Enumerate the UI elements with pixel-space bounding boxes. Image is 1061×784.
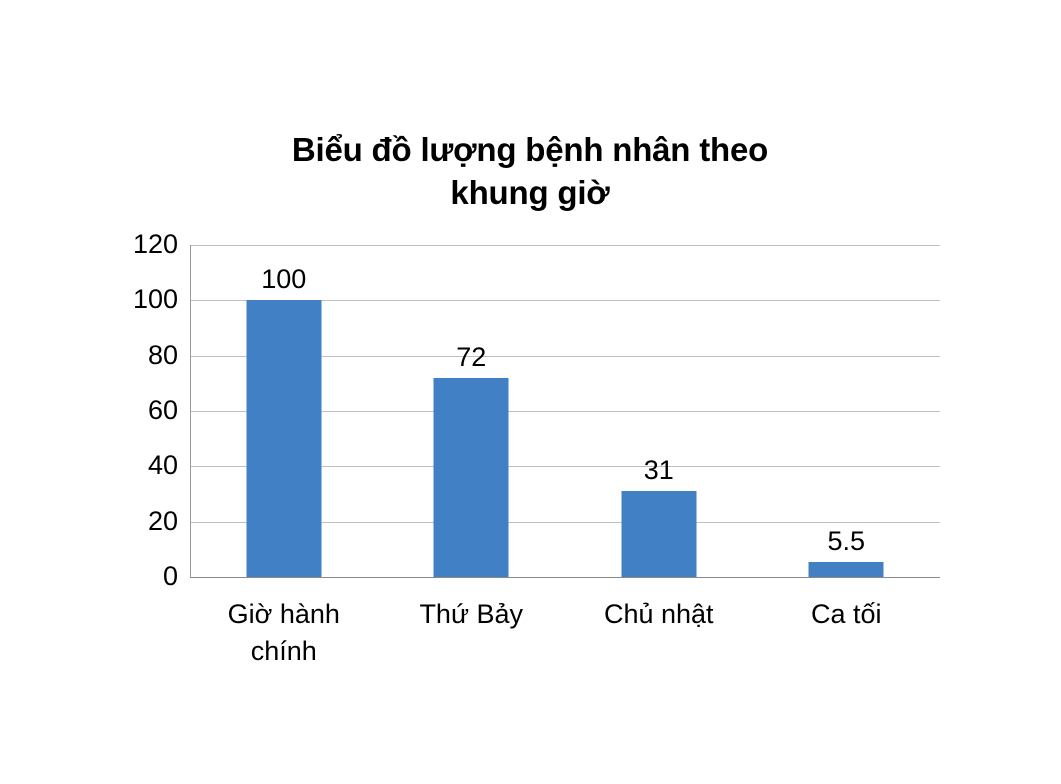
y-tick-label-60: 60 xyxy=(98,397,178,424)
bar-chart: Biểu đồ lượng bệnh nhân theo khung giờ 1… xyxy=(0,0,1061,784)
bar-slot-2: 72 xyxy=(378,245,566,577)
y-axis-line xyxy=(190,245,191,578)
x-axis-line xyxy=(190,577,940,578)
bar-value-label-3: 31 xyxy=(644,457,674,484)
bar-gio-hanh-chinh[interactable] xyxy=(246,300,321,577)
bar-slot-4: 5.5 xyxy=(753,245,941,577)
y-tick-label-20: 20 xyxy=(98,508,178,535)
x-tick-label-chu-nhat: Chủ nhật xyxy=(565,596,753,633)
x-tick-label-thu-bay: Thứ Bảy xyxy=(378,596,566,633)
chart-title: Biểu đồ lượng bệnh nhân theo khung giờ xyxy=(180,128,880,214)
bar-value-label-2: 72 xyxy=(456,344,486,371)
plot-area: 100 72 31 5.5 xyxy=(190,245,940,577)
y-tick-label-40: 40 xyxy=(98,452,178,479)
y-axis-tick-labels: 120 100 80 60 40 20 0 xyxy=(88,245,178,577)
bar-value-label-1: 100 xyxy=(261,266,306,293)
bar-ca-toi[interactable] xyxy=(809,562,884,577)
bar-thu-bay[interactable] xyxy=(434,378,509,577)
bar-slot-3: 31 xyxy=(565,245,753,577)
x-tick-label-gio-hanh-chinh: Giờ hành chính xyxy=(190,596,378,670)
y-tick-label-0: 0 xyxy=(98,563,178,590)
x-tick-label-ca-toi: Ca tối xyxy=(753,596,941,633)
x-axis-tick-labels: Giờ hành chính Thứ Bảy Chủ nhật Ca tối xyxy=(190,596,940,696)
bar-value-label-4: 5.5 xyxy=(827,528,865,555)
y-tick-label-100: 100 xyxy=(98,286,178,313)
y-tick-label-120: 120 xyxy=(98,231,178,258)
y-tick-label-80: 80 xyxy=(98,342,178,369)
bar-chu-nhat[interactable] xyxy=(621,491,696,577)
bar-slot-1: 100 xyxy=(190,245,378,577)
